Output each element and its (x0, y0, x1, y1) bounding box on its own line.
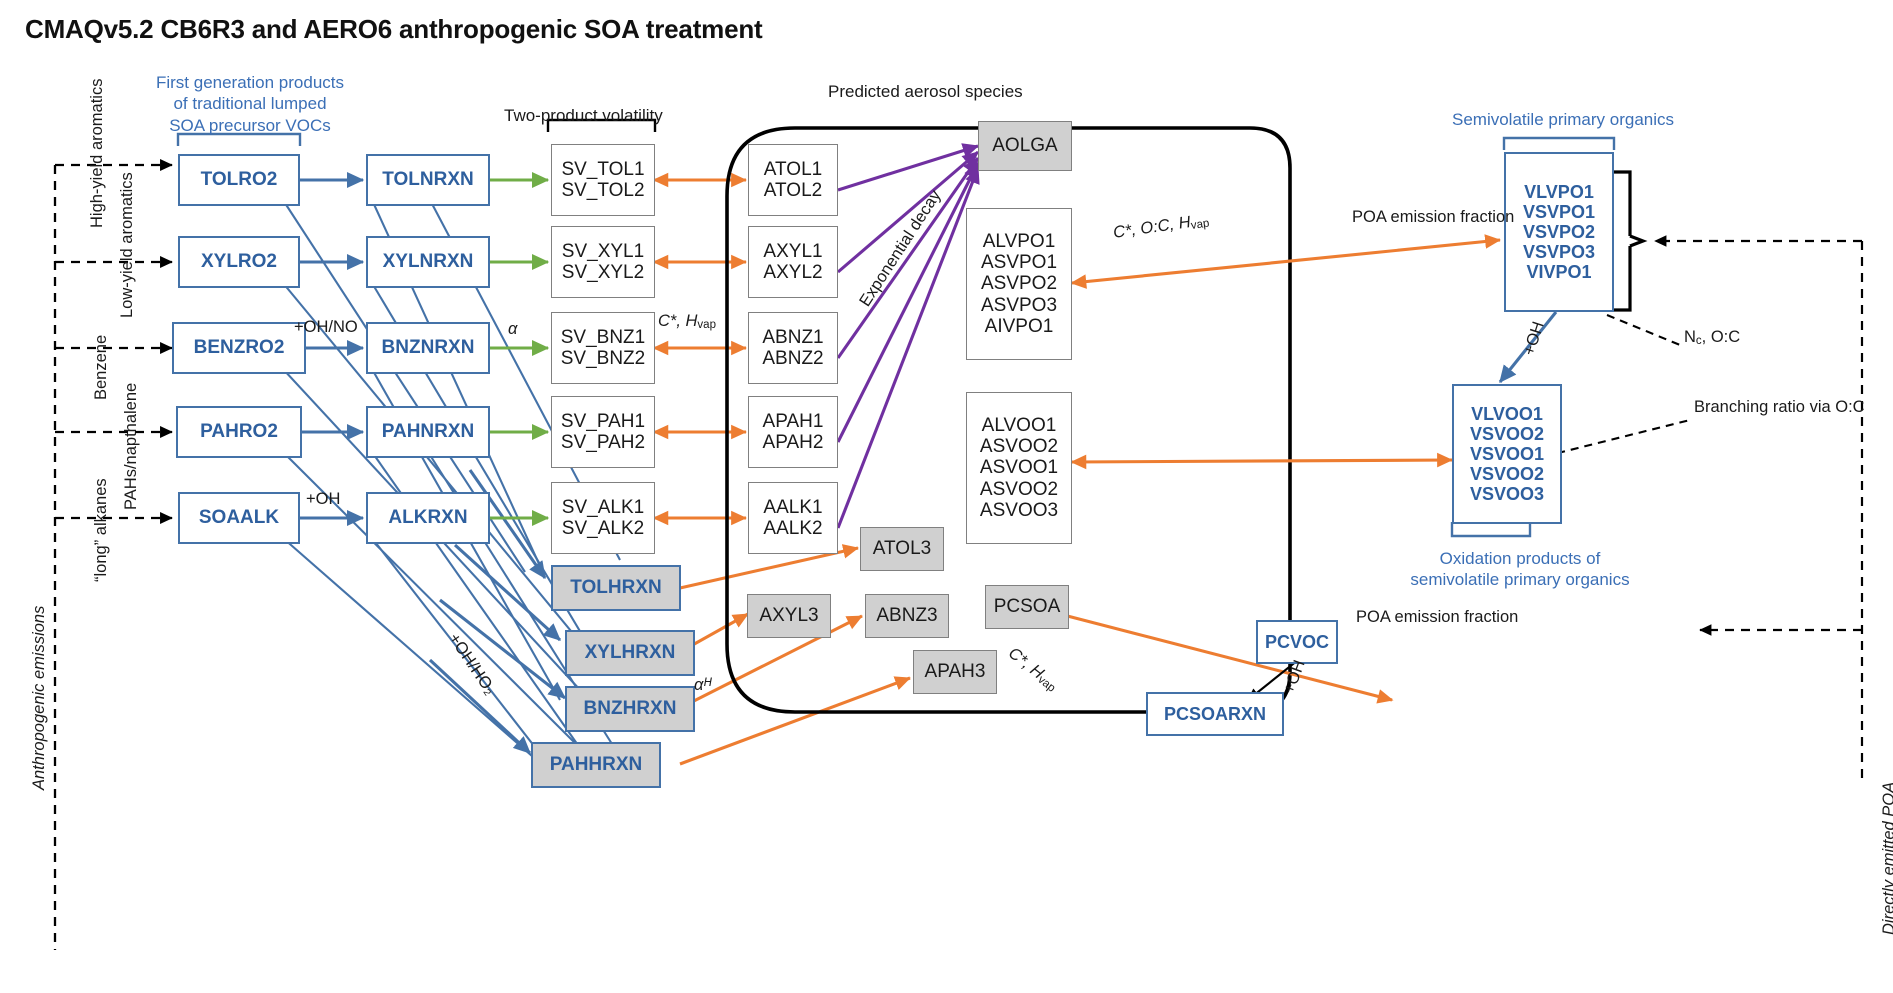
box-sv-tol: SV_TOL1 SV_TOL2 (551, 144, 655, 216)
axyl2-label: AXYL2 (763, 262, 822, 283)
box-pahnrxn[interactable]: PAHNRXN (366, 406, 490, 458)
sv-xyl2-label: SV_XYL2 (562, 262, 644, 283)
vsvoo3-label: VSVOO3 (1470, 484, 1544, 504)
vlvpo1-label: VLVPO1 (1524, 182, 1594, 202)
atol2-label: ATOL2 (764, 180, 822, 201)
aalk2-label: AALK2 (763, 518, 822, 539)
annotation-cstar-oc-hvap: C*, O:C, H (1112, 213, 1192, 242)
aalk1-label: AALK1 (763, 497, 822, 518)
header-oxidation-products: Oxidation products ofsemivolatile primar… (1400, 548, 1640, 591)
asvpo3-label: ASVPO3 (981, 295, 1057, 316)
box-xylhrxn[interactable]: XYLHRXN (565, 630, 695, 676)
asvoo2b-label: ASVOO2 (980, 479, 1058, 500)
box-pcvoc[interactable]: PCVOC (1256, 620, 1338, 664)
annotation-alpha: α (508, 320, 517, 339)
box-sv-alk: SV_ALK1 SV_ALK2 (551, 482, 655, 554)
header-two-product: Two-product volatility (504, 106, 663, 126)
box-avoo-list: ALVOO1 ASVOO2 ASVOO1 ASVOO2 ASVOO3 (966, 392, 1072, 544)
header-predicted-aerosol: Predicted aerosol species (828, 82, 1023, 102)
annotation-poa-emission-fraction-2: POA emission fraction (1356, 608, 1518, 627)
annotation-hvap-sub-2: vap (1190, 218, 1210, 232)
abnz2-label: ABNZ2 (762, 348, 823, 369)
atol1-label: ATOL1 (764, 159, 822, 180)
box-abnz3: ABNZ3 (865, 594, 949, 638)
box-xylnrxn[interactable]: XYLNRXN (366, 236, 490, 288)
vsvoo2b-label: VSVOO2 (1470, 464, 1544, 484)
vivpo1-label: VIVPO1 (1526, 262, 1591, 282)
annotation-exponential-decay: Exponential decay (856, 187, 945, 310)
annotation-poa-emission-fraction-1: POA emission fraction (1352, 208, 1514, 227)
box-sv-pah: SV_PAH1 SV_PAH2 (551, 396, 655, 468)
box-pahhrxn[interactable]: PAHHRXN (531, 742, 661, 788)
box-tolnrxn[interactable]: TOLNRXN (366, 154, 490, 206)
box-axyl: AXYL1 AXYL2 (748, 226, 838, 298)
abnz1-label: ABNZ1 (762, 327, 823, 348)
label-pahs-napthalene: PAHs/napthalene (122, 383, 141, 510)
box-pcsoa: PCSOA (985, 585, 1069, 629)
apah1-label: APAH1 (763, 411, 824, 432)
box-tolro2[interactable]: TOLRO2 (178, 154, 300, 206)
alvpo1-label: ALVPO1 (983, 231, 1056, 252)
annotation-oc-rest: , O:C (1702, 328, 1741, 346)
annotation-oh-no: +OH/NO (294, 318, 358, 337)
sv-bnz1-label: SV_BNZ1 (561, 327, 645, 348)
box-aalk: AALK1 AALK2 (748, 482, 838, 554)
annotation-alpha-h: αᴴ (694, 676, 711, 695)
box-atol3: ATOL3 (860, 527, 944, 571)
box-pahro2[interactable]: PAHRO2 (176, 406, 302, 458)
label-high-yield-aromatics: High-yield aromatics (88, 79, 107, 228)
header-semivolatile-primary: Semivolatile primary organics (1452, 110, 1674, 130)
sv-alk1-label: SV_ALK1 (562, 497, 644, 518)
box-sv-bnz: SV_BNZ1 SV_BNZ2 (551, 312, 655, 384)
box-sv-xyl: SV_XYL1 SV_XYL2 (551, 226, 655, 298)
box-axyl3: AXYL3 (747, 594, 831, 638)
box-alkrxn[interactable]: ALKRXN (366, 492, 490, 544)
annotation-oh-ho2: +OH/HO₂ (444, 630, 499, 699)
box-apah: APAH1 APAH2 (748, 396, 838, 468)
asvoo2a-label: ASVOO2 (980, 436, 1058, 457)
page-title: CMAQv5.2 CB6R3 and AERO6 anthropogenic S… (25, 14, 762, 45)
box-pcsoarxn[interactable]: PCSOARXN (1146, 692, 1284, 736)
label-anthropogenic-emissions: Anthropogenic emissions (30, 606, 49, 790)
annotation-hvap-sub-3: vap (1035, 674, 1057, 695)
vsvoo1-label: VSVOO1 (1470, 444, 1544, 464)
sv-tol1-label: SV_TOL1 (561, 159, 644, 180)
vlvoo1-label: VLVOO1 (1471, 404, 1543, 424)
box-bnznrxn[interactable]: BNZNRXN (366, 322, 490, 374)
annotation-oh-soaalk: +OH (306, 490, 340, 509)
box-bnzhrxn[interactable]: BNZHRXN (565, 686, 695, 732)
aivpo1-label: AIVPO1 (985, 316, 1054, 337)
sv-pah2-label: SV_PAH2 (561, 432, 645, 453)
annotation-branching-ratio: Branching ratio via O:C (1694, 398, 1865, 417)
vsvpo3-label: VSVPO3 (1523, 242, 1595, 262)
box-avpo-list: ALVPO1 ASVPO1 ASVPO2 ASVPO3 AIVPO1 (966, 208, 1072, 360)
label-directly-emitted-poa: Directly emitted POA (1880, 782, 1893, 935)
annotation-hvap-sub-1: vap (697, 319, 716, 331)
annotation-cstar-hvap-1: C*, H (658, 312, 697, 330)
label-long-alkanes: “long” alkanes (92, 478, 111, 582)
alvoo1-label: ALVOO1 (982, 415, 1057, 436)
diagram-canvas: CMAQv5.2 CB6R3 and AERO6 anthropogenic S… (0, 0, 1893, 993)
sv-bnz2-label: SV_BNZ2 (561, 348, 645, 369)
annotation-nc-oc: N (1684, 328, 1696, 346)
box-voo-list[interactable]: VLVOO1 VSVOO2 VSVOO1 VSVOO2 VSVOO3 (1452, 384, 1562, 524)
asvoo1-label: ASVOO1 (980, 457, 1058, 478)
box-soaalk[interactable]: SOAALK (178, 492, 300, 544)
box-tolhrxn[interactable]: TOLHRXN (551, 565, 681, 611)
asvpo2-label: ASVPO2 (981, 273, 1057, 294)
box-benzro2[interactable]: BENZRO2 (172, 322, 306, 374)
label-benzene: Benzene (92, 335, 111, 400)
box-abnz: ABNZ1 ABNZ2 (748, 312, 838, 384)
box-apah3: APAH3 (913, 650, 997, 694)
label-low-yield-aromatics: Low-yield aromatics (118, 172, 137, 318)
box-xylro2[interactable]: XYLRO2 (178, 236, 300, 288)
box-aolga: AOLGA (978, 121, 1072, 171)
sv-pah1-label: SV_PAH1 (561, 411, 645, 432)
vsvoo2a-label: VSVOO2 (1470, 424, 1544, 444)
sv-xyl1-label: SV_XYL1 (562, 241, 644, 262)
sv-tol2-label: SV_TOL2 (561, 180, 644, 201)
apah2-label: APAH2 (763, 432, 824, 453)
header-first-generation: First generation productsof traditional … (150, 72, 350, 136)
asvpo1-label: ASVPO1 (981, 252, 1057, 273)
annotation-plus-oh-vpo: +OH (1520, 319, 1549, 358)
box-vpo-list[interactable]: VLVPO1 VSVPO1 VSVPO2 VSVPO3 VIVPO1 (1504, 152, 1614, 312)
vsvpo1-label: VSVPO1 (1523, 202, 1595, 222)
sv-alk2-label: SV_ALK2 (562, 518, 644, 539)
box-atol: ATOL1 ATOL2 (748, 144, 838, 216)
axyl1-label: AXYL1 (763, 241, 822, 262)
asvoo3-label: ASVOO3 (980, 500, 1058, 521)
vsvpo2-label: VSVPO2 (1523, 222, 1595, 242)
